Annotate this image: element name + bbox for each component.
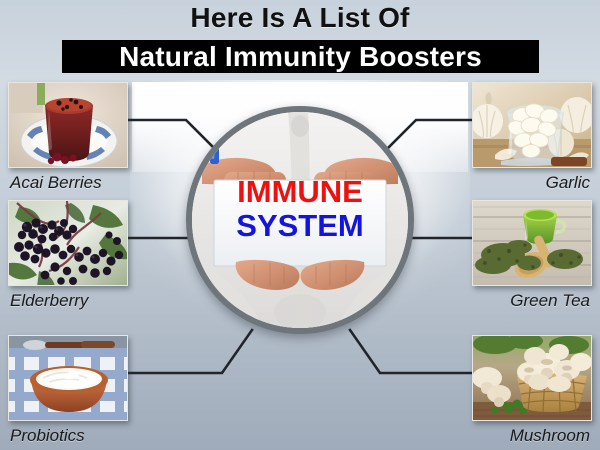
item-garlic[interactable]: Garlic: [472, 82, 592, 193]
center-photo: [192, 112, 408, 328]
connector-garlic: [384, 120, 472, 152]
acai-berry-smoothie-image: [9, 83, 128, 168]
connector-probiotics: [128, 330, 252, 373]
garlic-image: [473, 83, 592, 168]
title-banner: Natural Immunity Boosters: [62, 40, 539, 73]
item-acai-berries[interactable]: Acai Berries: [8, 82, 128, 193]
probiotics-yogurt-image: [9, 336, 128, 421]
green-tea-image: [473, 201, 592, 286]
mushroom-image: [473, 336, 592, 421]
connector-mushroom: [350, 330, 472, 373]
thumb-elderberry[interactable]: [8, 200, 128, 286]
title-line-1: Here Is A List Of: [0, 2, 600, 34]
infographic-canvas: Here Is A List Of Natural Immunity Boost…: [0, 0, 600, 450]
caption-green-tea: Green Tea: [472, 291, 592, 311]
item-probiotics[interactable]: Probiotics: [8, 335, 128, 446]
thumb-green-tea[interactable]: [472, 200, 592, 286]
caption-garlic: Garlic: [472, 173, 592, 193]
immune-system-circle: IMMUNE SYSTEM: [186, 106, 414, 334]
thumb-acai-berries[interactable]: [8, 82, 128, 168]
caption-elderberry: Elderberry: [8, 291, 128, 311]
title-line-2: Natural Immunity Boosters: [62, 40, 539, 73]
elderberry-image: [9, 201, 128, 286]
item-mushroom[interactable]: Mushroom: [472, 335, 592, 446]
caption-mushroom: Mushroom: [472, 426, 592, 446]
thumb-garlic[interactable]: [472, 82, 592, 168]
caption-acai-berries: Acai Berries: [8, 173, 128, 193]
thumb-probiotics[interactable]: [8, 335, 128, 421]
item-green-tea[interactable]: Green Tea: [472, 200, 592, 311]
connector-acai: [128, 120, 218, 152]
thumb-mushroom[interactable]: [472, 335, 592, 421]
item-elderberry[interactable]: Elderberry: [8, 200, 128, 311]
caption-probiotics: Probiotics: [8, 426, 128, 446]
